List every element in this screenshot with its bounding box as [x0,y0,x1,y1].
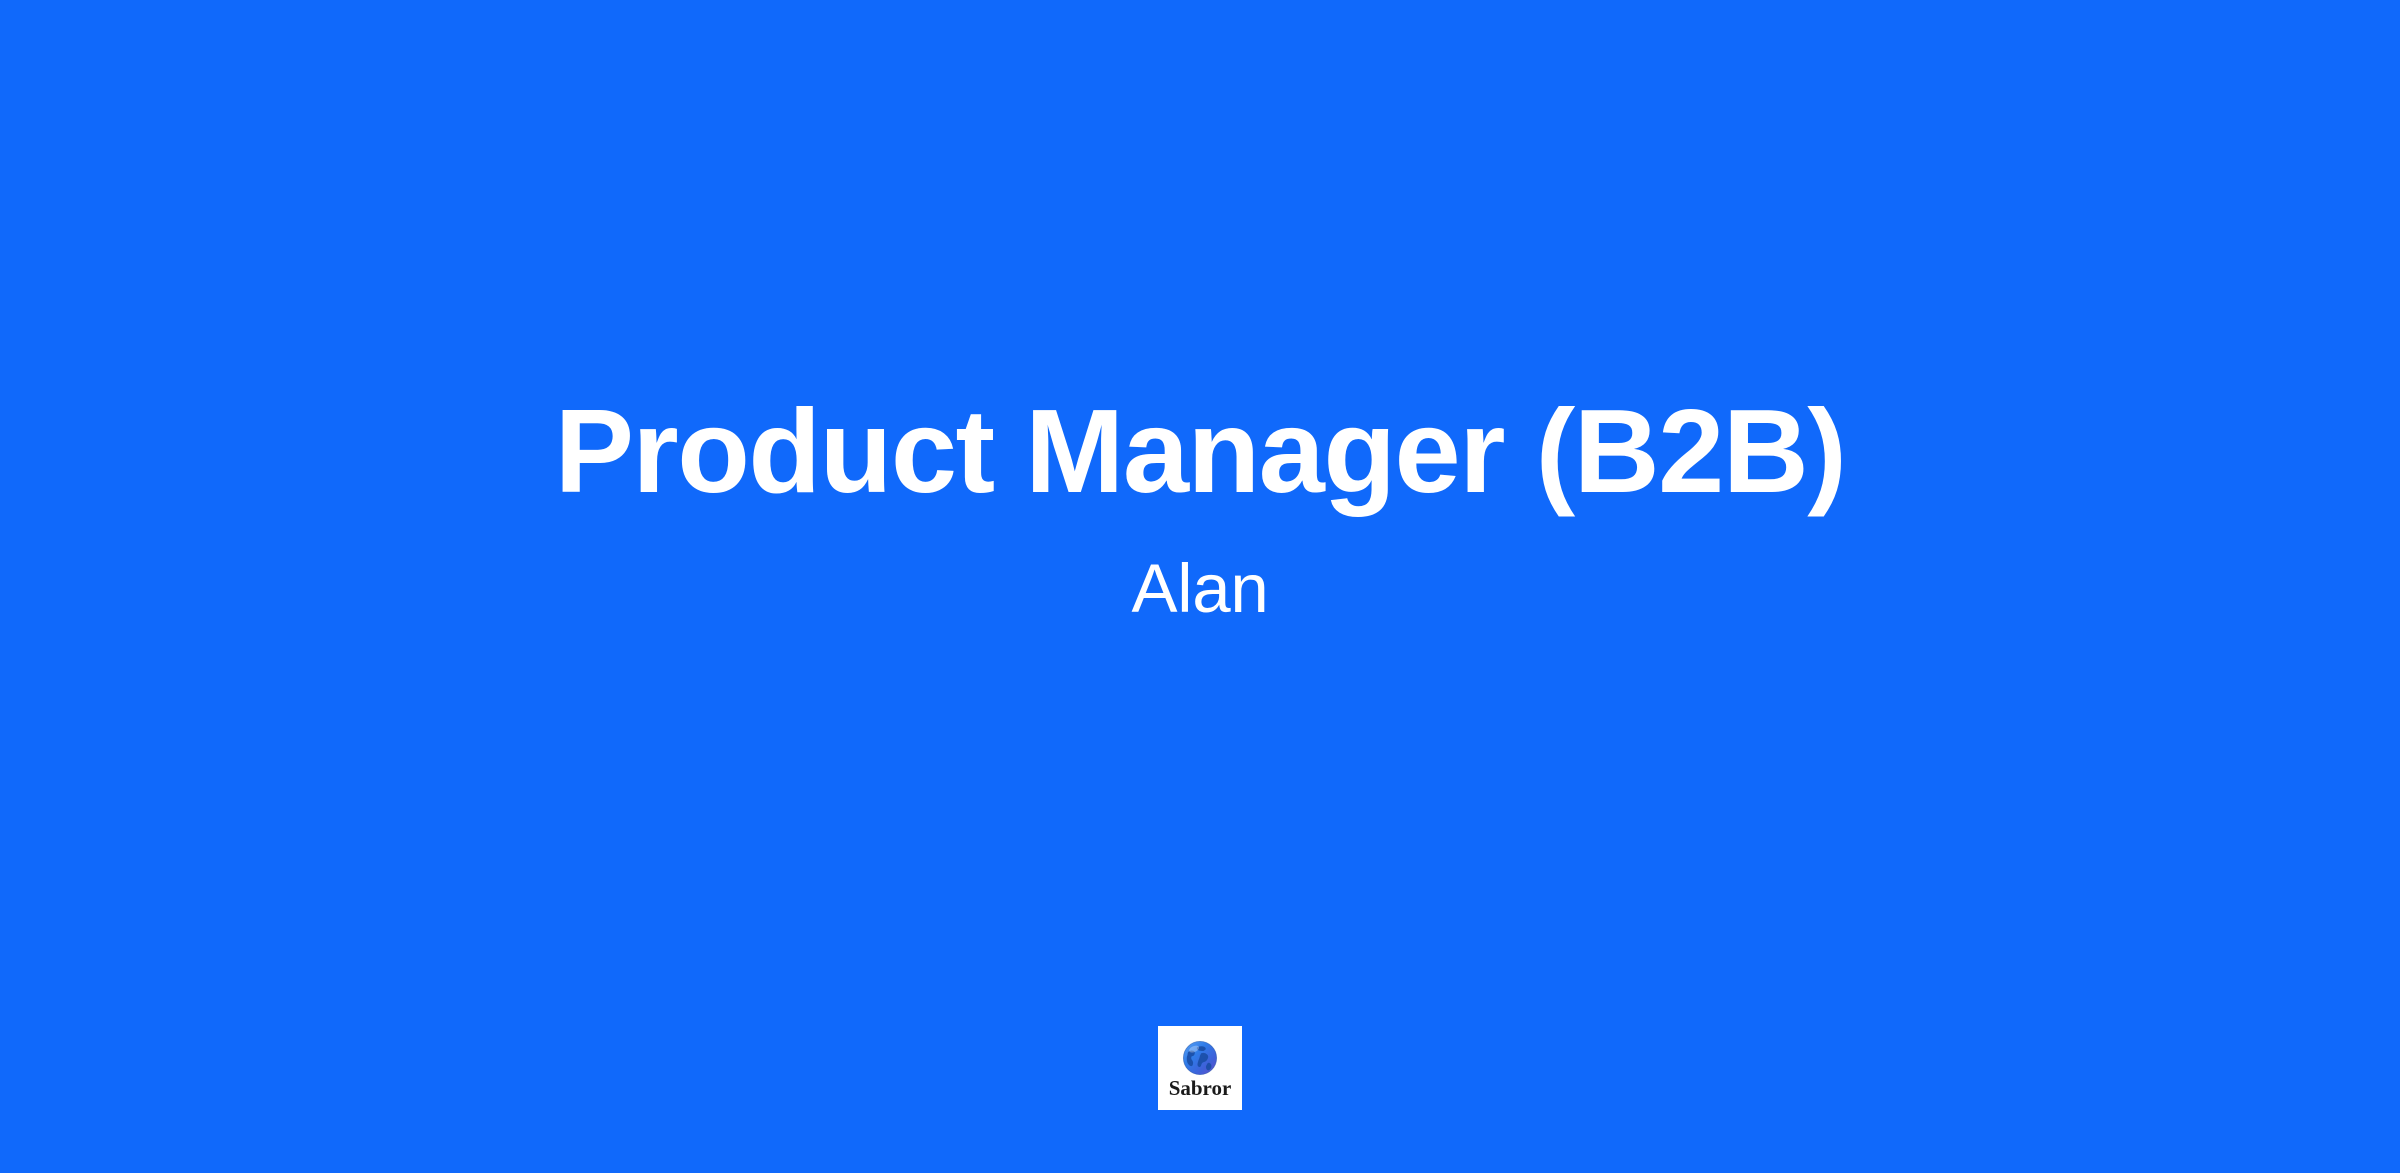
page-title: Product Manager (B2B) [0,385,2400,518]
slide-title-block: Product Manager (B2B) Alan [0,0,2400,1173]
brand-logo-badge: Sabror [1158,1026,1242,1110]
globe-icon [1181,1039,1219,1077]
presentation-slide: Product Manager (B2B) Alan [0,0,2400,1173]
slide-subtitle: Alan [0,549,2400,628]
brand-wordmark: Sabror [1169,1078,1232,1099]
